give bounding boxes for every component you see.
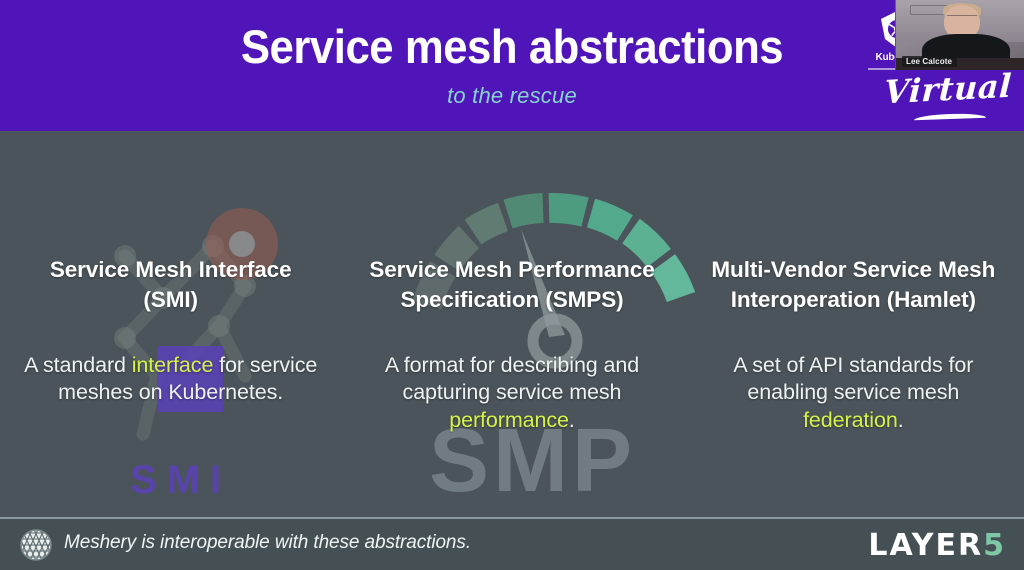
column-smps-title-line1: Service Mesh Performance xyxy=(369,257,654,282)
column-hamlet-desc-pre: A set of API standards for enabling serv… xyxy=(733,353,973,405)
meshery-mesh-circle-logo xyxy=(20,529,52,561)
column-smps-desc-post: . xyxy=(569,408,575,432)
presentation-slide: Service mesh abstractions to the rescue xyxy=(0,0,1024,570)
layer5-digit: 5 xyxy=(983,528,1006,563)
column-smps-title: Service Mesh Performance Specification (… xyxy=(365,255,658,316)
column-smps-desc-pre: A format for describing and capturing se… xyxy=(385,353,639,405)
column-smi-desc-pre: A standard xyxy=(24,353,132,377)
presenter-webcam-feed[interactable]: Lee Calcote xyxy=(895,0,1024,70)
column-hamlet-title: Multi-Vendor Service Mesh Interoperation… xyxy=(707,255,1000,316)
column-smi-title-line1: Service Mesh Interface xyxy=(50,257,292,282)
column-hamlet-description: A set of API standards for enabling serv… xyxy=(707,352,1000,435)
column-hamlet-title-line1: Multi-Vendor Service Mesh xyxy=(711,257,995,282)
column-smps-title-line2: Specification (SMPS) xyxy=(400,287,623,312)
layer5-wordmark: LAYER xyxy=(868,528,983,563)
slide-footer: Meshery is interoperable with these abst… xyxy=(0,517,1024,570)
column-smi: Service Mesh Interface (SMI) A standard … xyxy=(0,131,341,407)
column-hamlet-title-line2: Interoperation (Hamlet) xyxy=(731,287,976,312)
presenter-name-label: Lee Calcote xyxy=(902,56,957,67)
column-smi-title: Service Mesh Interface (SMI) xyxy=(24,255,317,316)
column-smps: Service Mesh Performance Specification (… xyxy=(341,131,682,435)
column-hamlet: Multi-Vendor Service Mesh Interoperation… xyxy=(683,131,1024,435)
page-title: Service mesh abstractions xyxy=(36,22,988,71)
abstraction-columns: Service Mesh Interface (SMI) A standard … xyxy=(0,131,1024,515)
slide-header: Service mesh abstractions to the rescue xyxy=(0,0,1024,131)
column-smi-title-line2: (SMI) xyxy=(143,287,198,312)
presenter-glasses xyxy=(947,15,977,23)
layer5-brand-logo: LAYER5 xyxy=(868,531,1006,561)
column-hamlet-desc-post: . xyxy=(898,408,904,432)
column-smps-desc-highlight: performance xyxy=(449,408,569,432)
column-smi-desc-highlight: interface xyxy=(132,353,214,377)
virtual-wordmark: Virtual xyxy=(879,66,1017,111)
virtual-underline-swoosh xyxy=(914,113,986,121)
footer-caption: Meshery is interoperable with these abst… xyxy=(64,532,471,554)
slide-body: SMI xyxy=(0,131,1024,515)
column-smi-description: A standard interface for service meshes … xyxy=(24,352,317,407)
column-hamlet-desc-highlight: federation xyxy=(803,408,898,432)
column-smps-description: A format for describing and capturing se… xyxy=(365,352,658,435)
